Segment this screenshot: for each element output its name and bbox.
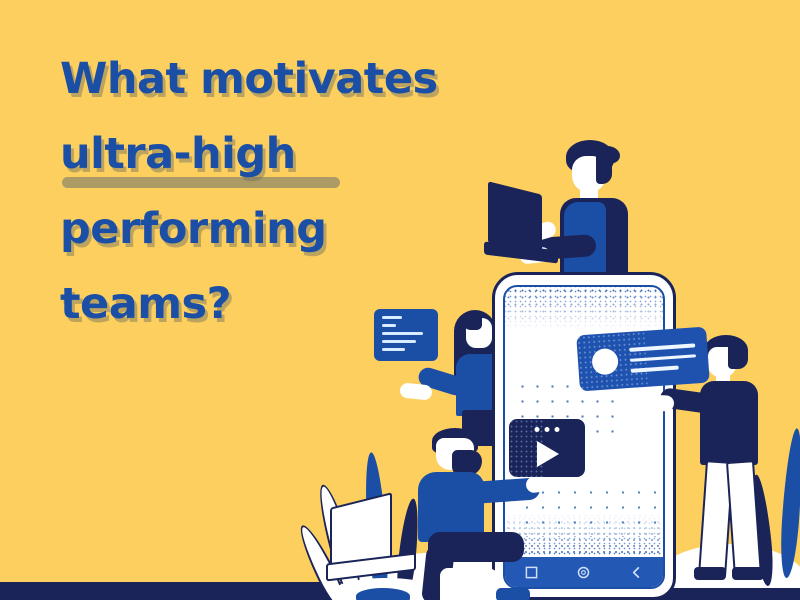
headline-line-1: What motivates (60, 58, 520, 101)
person-knee-pad (440, 568, 504, 600)
dot-icon (535, 427, 540, 432)
card-line (631, 366, 679, 373)
headline-line-4: teams? (60, 283, 520, 326)
video-player-card[interactable] (509, 419, 585, 477)
poster-canvas: What motivates ultra-high performing tea… (0, 0, 800, 600)
headline-line-2-text: ultra-high (60, 129, 296, 179)
card-text-lines (629, 343, 697, 379)
person-hair-side (596, 152, 612, 184)
person-leg (726, 460, 762, 578)
plant-leaf (778, 428, 800, 579)
circle-icon[interactable] (577, 566, 590, 579)
card-line (630, 354, 696, 362)
person-shoe (732, 567, 764, 580)
back-chevron-icon[interactable] (630, 566, 643, 579)
person-shoe (694, 567, 726, 580)
person-hand (399, 382, 432, 400)
person-shoe (496, 588, 530, 600)
person-with-laptop-top (530, 140, 660, 290)
profile-card[interactable] (576, 327, 710, 392)
play-icon[interactable] (537, 441, 559, 467)
person-hand (640, 394, 675, 411)
headline-line-2: ultra-high (60, 133, 520, 176)
dot-icon (545, 427, 550, 432)
person-hair-side (728, 343, 748, 369)
headline-line-3: performing (60, 208, 520, 251)
screen-speckle-top (505, 287, 663, 329)
dot-icon (555, 427, 560, 432)
video-card-dots (535, 427, 560, 432)
headline: What motivates ultra-high performing tea… (60, 58, 520, 358)
